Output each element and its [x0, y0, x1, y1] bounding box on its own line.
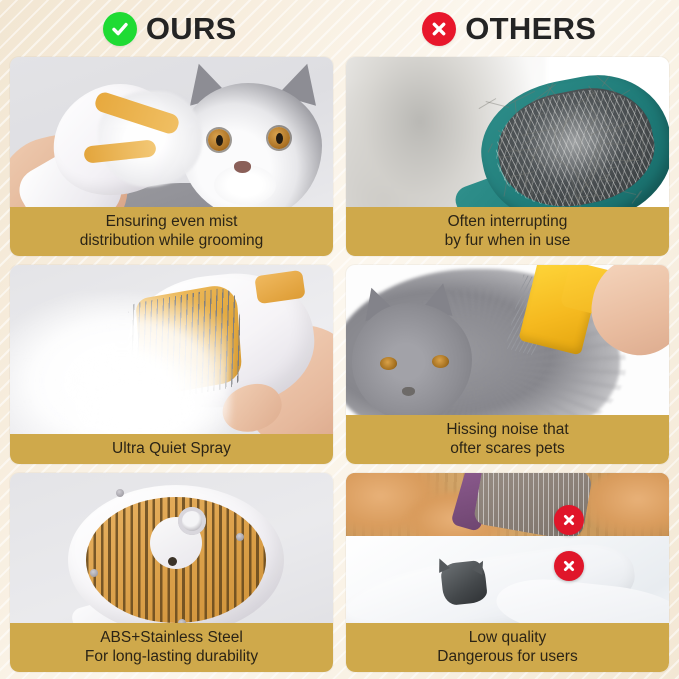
photo-fur-on-wood: [346, 473, 669, 536]
header-others-label: OTHERS: [465, 13, 596, 44]
caption-line: distribution while grooming: [16, 231, 327, 250]
cat-nose: [234, 161, 251, 173]
cat-pupil-left: [216, 135, 223, 146]
x-circle-icon-top: [554, 505, 584, 535]
screw: [116, 489, 124, 497]
x-circle-icon-bottom: [554, 551, 584, 581]
panel-others-low-quality: Low quality Dangerous for users: [346, 473, 669, 672]
panel-ours-even-mist: Ensuring even mist distribution while gr…: [10, 57, 333, 256]
caption-line: Often interrupting: [352, 212, 663, 231]
panel-others-hissing-noise: Hissing noise that ofter scares pets: [346, 265, 669, 464]
screw: [90, 569, 98, 577]
header: OURS OTHERS: [0, 0, 679, 57]
header-others: OTHERS: [340, 0, 679, 57]
caption-line: ABS+Stainless Steel: [16, 628, 327, 647]
screw: [236, 533, 244, 541]
caption-line: Ensuring even mist: [16, 212, 327, 231]
caption-others-hissing-noise: Hissing noise that ofter scares pets: [346, 415, 669, 464]
caption-ours-even-mist: Ensuring even mist distribution while gr…: [10, 207, 333, 256]
check-circle-icon: [103, 12, 137, 46]
panel-others-fur-interrupt: Often interrupting by fur when in use: [346, 57, 669, 256]
header-ours-label: OURS: [146, 13, 237, 44]
caption-others-low-quality: Low quality Dangerous for users: [346, 623, 669, 672]
caption-line: ofter scares pets: [352, 439, 663, 458]
header-ours: OURS: [0, 0, 340, 57]
caption-line: Ultra Quiet Spray: [16, 439, 327, 458]
caption-line: by fur when in use: [352, 231, 663, 250]
cat-pupil-right: [276, 133, 283, 144]
cat-head: [352, 303, 472, 421]
release-ring: [178, 507, 206, 535]
fur-strand: [531, 175, 532, 195]
caption-line: Low quality: [352, 628, 663, 647]
caption-line: For long-lasting durability: [16, 647, 327, 666]
caption-line: Hissing noise that: [352, 420, 663, 439]
panel-ours-ultra-quiet-spray: Ultra Quiet Spray: [10, 265, 333, 464]
fur-strand: [565, 200, 574, 202]
caption-others-fur-interrupt: Often interrupting by fur when in use: [346, 207, 669, 256]
vent-hole: [168, 557, 177, 566]
cat-eye-right: [432, 355, 449, 368]
panel-ours-abs-stainless: ABS+Stainless Steel For long-lasting dur…: [10, 473, 333, 672]
comparison-infographic: OURS OTHERS: [0, 0, 679, 679]
x-circle-icon: [422, 12, 456, 46]
cat-eye-left: [380, 357, 397, 370]
caption-ours-abs-stainless: ABS+Stainless Steel For long-lasting dur…: [10, 623, 333, 672]
cat-nose: [402, 387, 415, 396]
fur-clump: [584, 473, 669, 536]
caption-line: Dangerous for users: [352, 647, 663, 666]
caption-ours-ultra-quiet-spray: Ultra Quiet Spray: [10, 434, 333, 464]
panel-grid: Ensuring even mist distribution while gr…: [10, 57, 669, 672]
